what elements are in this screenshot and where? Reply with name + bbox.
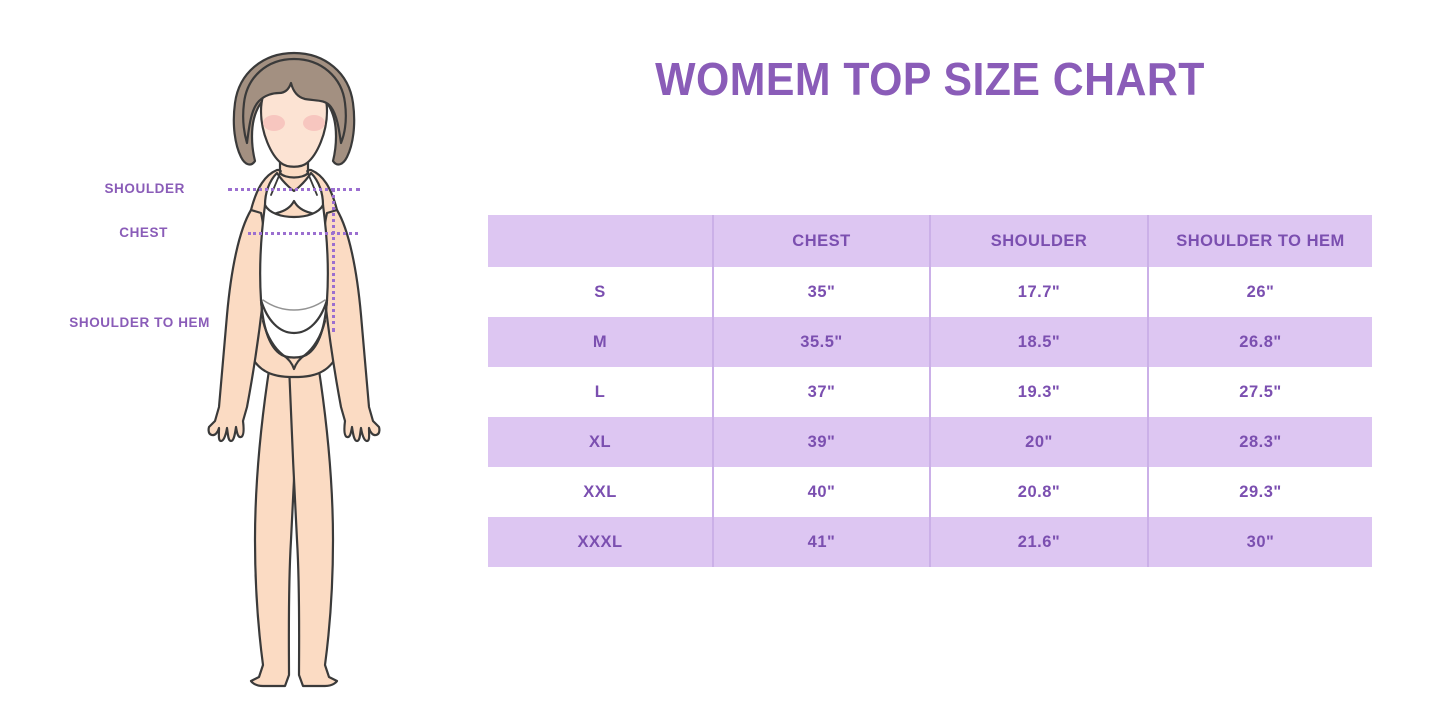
cell-shoulder-to-hem: 26" (1148, 267, 1372, 317)
table-row: S 35" 17.7" 26" (488, 267, 1372, 317)
cell-size: XXXL (488, 517, 713, 567)
table-row: XXXL 41" 21.6" 30" (488, 517, 1372, 567)
cell-size: XL (488, 417, 713, 467)
chest-guide-line (248, 232, 358, 235)
cell-shoulder: 20" (930, 417, 1148, 467)
table-row: M 35.5" 18.5" 26.8" (488, 317, 1372, 367)
measurement-label-chest: CHEST (0, 225, 168, 240)
cell-chest: 40" (713, 467, 930, 517)
cell-chest: 35" (713, 267, 930, 317)
cell-shoulder-to-hem: 29.3" (1148, 467, 1372, 517)
cell-chest: 39" (713, 417, 930, 467)
female-figure-illustration (155, 45, 455, 695)
cell-size: S (488, 267, 713, 317)
table-row: XL 39" 20" 28.3" (488, 417, 1372, 467)
cell-shoulder-to-hem: 26.8" (1148, 317, 1372, 367)
table-row: XXL 40" 20.8" 29.3" (488, 467, 1372, 517)
column-header-shoulder-to-hem: SHOULDER TO HEM (1148, 215, 1372, 267)
measurement-label-shoulder-to-hem: SHOULDER TO HEM (0, 315, 210, 330)
cell-shoulder-to-hem: 28.3" (1148, 417, 1372, 467)
column-header-shoulder: SHOULDER (930, 215, 1148, 267)
cell-shoulder: 17.7" (930, 267, 1148, 317)
cell-size: XXL (488, 467, 713, 517)
illustration-panel: SHOULDER CHEST SHOULDER TO HEM (0, 0, 470, 723)
cell-chest: 35.5" (713, 317, 930, 367)
table-row: L 37" 19.3" 27.5" (488, 367, 1372, 417)
cell-size: M (488, 317, 713, 367)
cell-size: L (488, 367, 713, 417)
shoulder-guide-line (228, 188, 360, 191)
size-chart-table: CHEST SHOULDER SHOULDER TO HEM S 35" 17.… (488, 215, 1372, 567)
cell-shoulder-to-hem: 30" (1148, 517, 1372, 567)
cell-chest: 41" (713, 517, 930, 567)
cell-shoulder: 18.5" (930, 317, 1148, 367)
page-title: WOMEM TOP SIZE CHART (519, 52, 1341, 106)
cell-shoulder: 21.6" (930, 517, 1148, 567)
size-chart-page: WOMEM TOP SIZE CHART (0, 0, 1445, 723)
cell-shoulder: 20.8" (930, 467, 1148, 517)
cell-shoulder: 19.3" (930, 367, 1148, 417)
table-header-row: CHEST SHOULDER SHOULDER TO HEM (488, 215, 1372, 267)
shoulder-to-hem-guide-line (332, 188, 335, 332)
column-header-size (488, 215, 713, 267)
measurement-label-shoulder: SHOULDER (0, 181, 185, 196)
column-header-chest: CHEST (713, 215, 930, 267)
cell-shoulder-to-hem: 27.5" (1148, 367, 1372, 417)
cell-chest: 37" (713, 367, 930, 417)
